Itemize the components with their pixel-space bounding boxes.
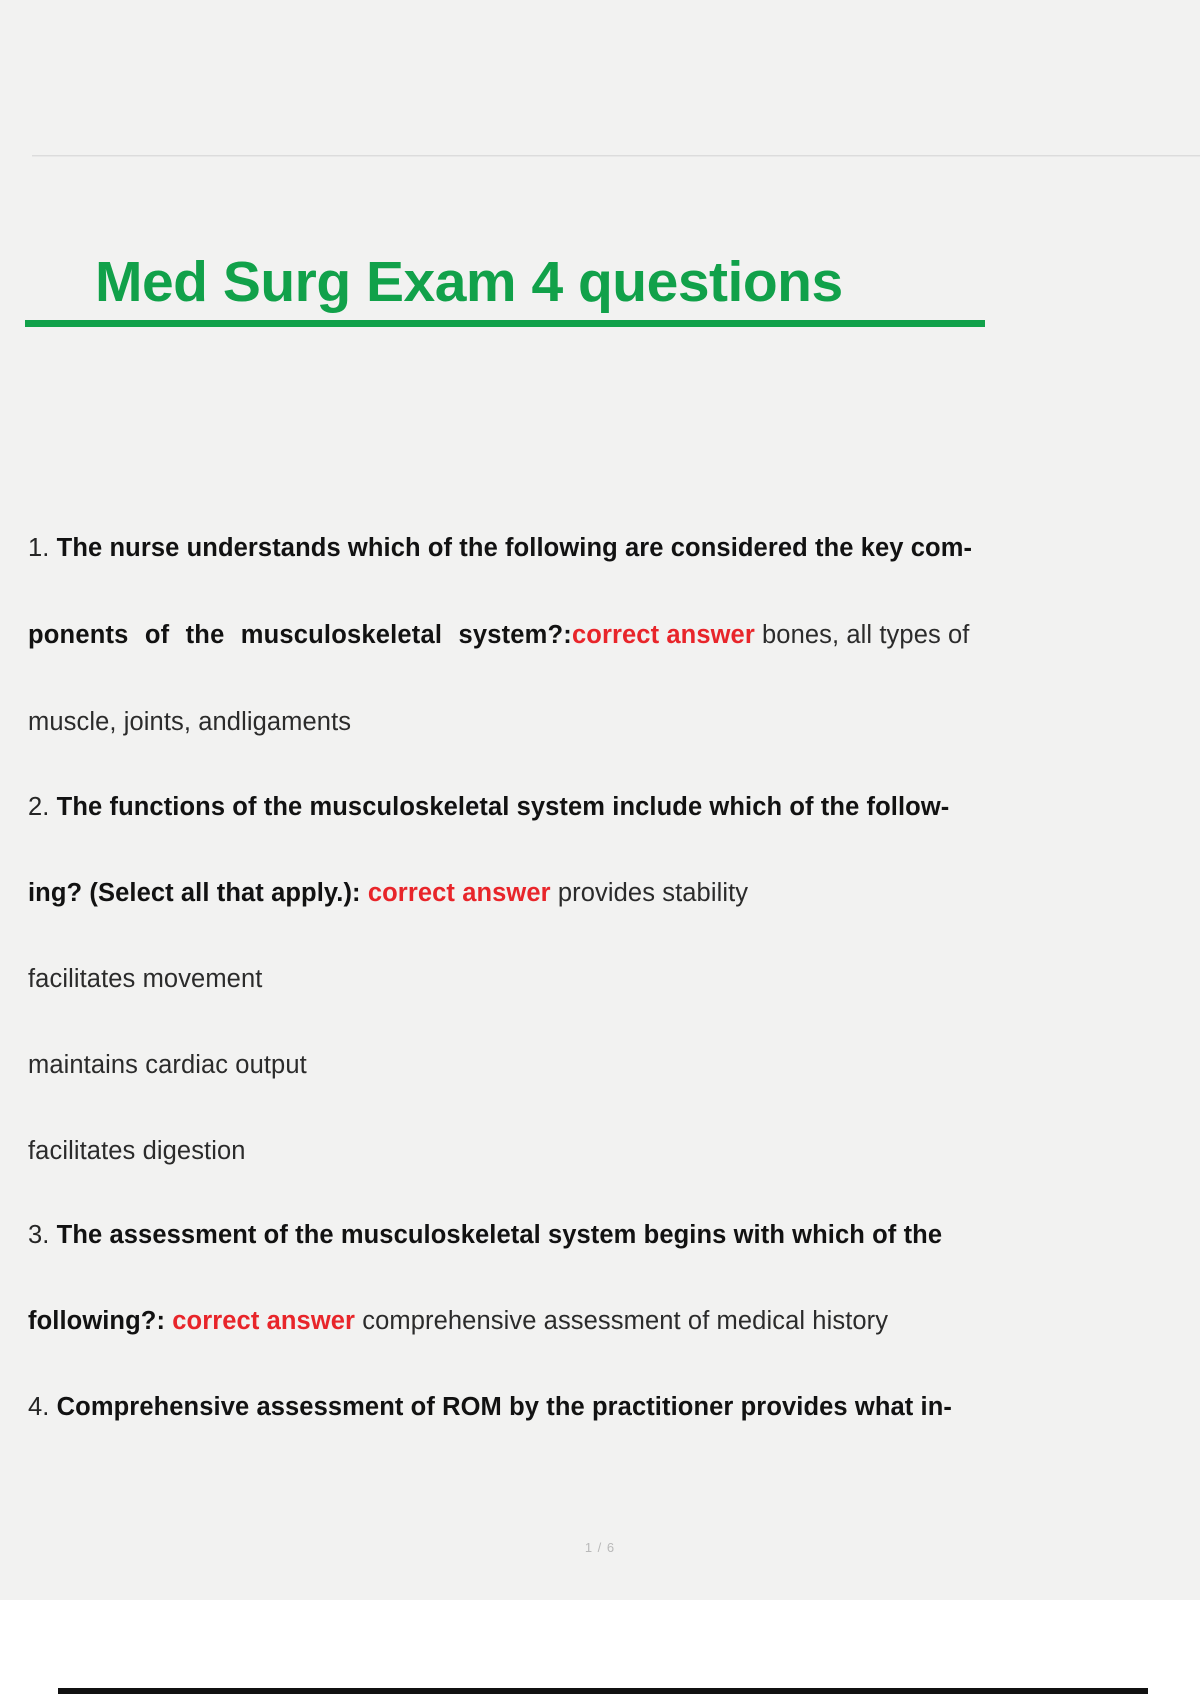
document-page: Med Surg Exam 4 questions 1. The nurse u… [0, 0, 1200, 1600]
page-title: Med Surg Exam 4 questions [95, 247, 843, 317]
question-text: following?: [28, 1307, 172, 1335]
question-number: 1. [28, 534, 49, 562]
question-text: The nurse understands which of the follo… [49, 534, 972, 562]
answer-option-text: facilitates digestion [28, 1137, 246, 1165]
answer-option-text: facilitates movement [28, 965, 262, 993]
question-continuation-line: maintains cardiac output [28, 1049, 1200, 1081]
question-number: 3. [28, 1221, 49, 1249]
question-text: ponents of the musculoskeletal system?: [28, 621, 572, 649]
question-line: 4. Comprehensive assessment of ROM by th… [28, 1391, 1200, 1423]
question-continuation-line: facilitates digestion [28, 1135, 1200, 1167]
question-text: The functions of the musculoskeletal sys… [49, 793, 949, 821]
page-indicator: 1 / 6 [0, 1540, 1200, 1555]
correct-answer-label: correct answer [172, 1307, 355, 1335]
header-divider [32, 155, 1200, 157]
question-line: 2. The functions of the musculoskeletal … [28, 791, 1200, 823]
page-gutter [0, 1600, 1200, 1700]
question-continuation-line: following?: correct answer comprehensive… [28, 1305, 1200, 1337]
bottom-edge-bar [58, 1688, 1148, 1694]
question-number: 2. [28, 793, 49, 821]
question-number: 4. [28, 1393, 49, 1421]
correct-answer-label: correct answer [572, 621, 755, 649]
title-underline [25, 320, 985, 327]
question-continuation-line: muscle, joints, andligaments [28, 706, 1200, 738]
question-continuation-line: ing? (Select all that apply.): correct a… [28, 877, 1200, 909]
answer-text: comprehensive assessment of medical hist… [355, 1307, 888, 1335]
question-text: Comprehensive assessment of ROM by the p… [49, 1393, 952, 1421]
question-text: ing? (Select all that apply.): [28, 879, 368, 907]
answer-text: bones, all types of [755, 621, 970, 649]
document-title-block: Med Surg Exam 4 questions [0, 247, 1200, 337]
question-line: 1. The nurse understands which of the fo… [28, 532, 1200, 564]
correct-answer-label: correct answer [368, 879, 551, 907]
question-text: The assessment of the musculoskeletal sy… [49, 1221, 942, 1249]
question-continuation-line: ponents of the musculoskeletal system?:c… [28, 619, 1200, 651]
answer-option-text: maintains cardiac output [28, 1051, 307, 1079]
answer-option-text: muscle, joints, andligaments [28, 708, 351, 736]
question-line: 3. The assessment of the musculoskeletal… [28, 1219, 1200, 1251]
answer-text: provides stability [551, 879, 748, 907]
question-continuation-line: facilitates movement [28, 963, 1200, 995]
